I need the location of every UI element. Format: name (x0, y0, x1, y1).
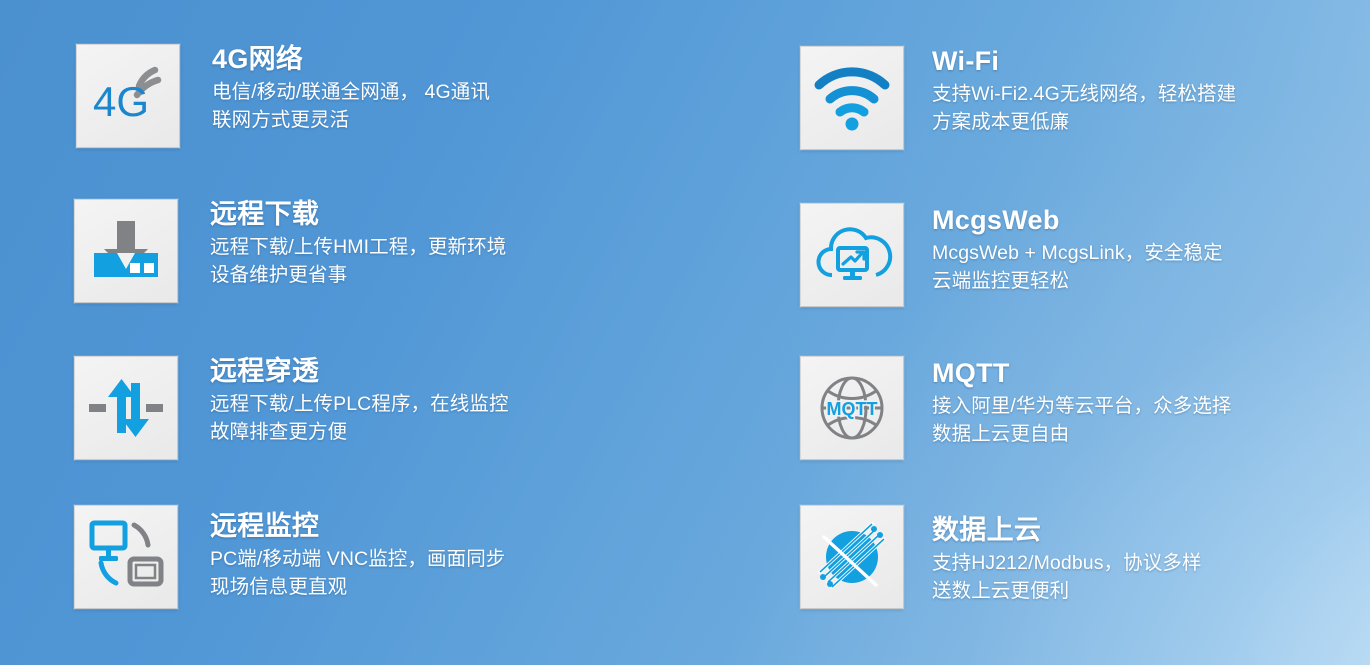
download-arrow-icon (74, 199, 178, 303)
feature-description-line-1: 远程下载/上传HMI工程，更新环境 (210, 234, 506, 262)
feature-description: McgsWeb + McgsLink，安全稳定 云端监控更轻松 (932, 240, 1223, 295)
feature-description-line-2: 云端监控更轻松 (932, 268, 1223, 296)
wifi-icon (800, 46, 904, 150)
feature-description-line-2: 现场信息更直观 (210, 574, 505, 602)
feature-item-wifi[interactable]: Wi-Fi 支持Wi-Fi2.4G无线网络，轻松搭建 方案成本更低廉 (800, 46, 1236, 150)
feature-grid-page: 4G 4G网络 电信/移动/联通全网通， 4G通讯 联网方式更灵活 (0, 0, 1370, 665)
feature-description-line-1: PC端/移动端 VNC监控，画面同步 (210, 546, 505, 574)
feature-description-line-2: 方案成本更低廉 (932, 109, 1236, 137)
data-stream-circle-icon (800, 505, 904, 609)
feature-description: 远程下载/上传HMI工程，更新环境 设备维护更省事 (210, 234, 506, 289)
feature-description: 电信/移动/联通全网通， 4G通讯 联网方式更灵活 (212, 79, 490, 134)
feature-description-line-2: 联网方式更灵活 (212, 107, 490, 135)
feature-item-remote-download[interactable]: 远程下载 远程下载/上传HMI工程，更新环境 设备维护更省事 (74, 199, 506, 303)
feature-title: Wi-Fi (932, 46, 1236, 78)
feature-item-remote-monitoring[interactable]: 远程监控 PC端/移动端 VNC监控，画面同步 现场信息更直观 (74, 505, 505, 609)
feature-description-line-1: 支持HJ212/Modbus，协议多样 (932, 550, 1202, 578)
cloud-monitor-icon (800, 203, 904, 307)
feature-item-remote-passthrough[interactable]: 远程穿透 远程下载/上传PLC程序，在线监控 故障排查更方便 (74, 356, 509, 460)
feature-text-block: McgsWeb McgsWeb + McgsLink，安全稳定 云端监控更轻松 (932, 203, 1223, 295)
feature-title: 远程下载 (210, 199, 506, 231)
up-down-arrows-icon (74, 356, 178, 460)
feature-text-block: 远程下载 远程下载/上传HMI工程，更新环境 设备维护更省事 (210, 199, 506, 289)
feature-title: 远程监控 (210, 511, 505, 543)
feature-description-line-2: 数据上云更自由 (932, 421, 1232, 449)
feature-description-line-1: 远程下载/上传PLC程序，在线监控 (210, 391, 509, 419)
feature-item-data-to-cloud[interactable]: 数据上云 支持HJ212/Modbus，协议多样 送数上云更便利 (800, 505, 1202, 609)
svg-text:4G: 4G (93, 78, 149, 125)
feature-description: 远程下载/上传PLC程序，在线监控 故障排查更方便 (210, 391, 509, 446)
feature-description-line-1: 电信/移动/联通全网通， 4G通讯 (212, 79, 490, 107)
monitor-tablet-icon (74, 505, 178, 609)
feature-description-line-1: McgsWeb + McgsLink，安全稳定 (932, 240, 1223, 268)
feature-description: 接入阿里/华为等云平台，众多选择 数据上云更自由 (932, 393, 1232, 448)
feature-text-block: 远程穿透 远程下载/上传PLC程序，在线监控 故障排查更方便 (210, 356, 509, 446)
feature-text-block: Wi-Fi 支持Wi-Fi2.4G无线网络，轻松搭建 方案成本更低廉 (932, 46, 1236, 136)
feature-title: McgsWeb (932, 205, 1223, 237)
feature-description-line-1: 接入阿里/华为等云平台，众多选择 (932, 393, 1232, 421)
mqtt-label: MQTT (827, 399, 878, 419)
feature-description-line-1: 支持Wi-Fi2.4G无线网络，轻松搭建 (932, 81, 1236, 109)
feature-title: 数据上云 (932, 515, 1202, 547)
feature-text-block: 远程监控 PC端/移动端 VNC监控，画面同步 现场信息更直观 (210, 505, 505, 601)
feature-text-block: MQTT 接入阿里/华为等云平台，众多选择 数据上云更自由 (932, 356, 1232, 448)
feature-text-block: 数据上云 支持HJ212/Modbus，协议多样 送数上云更便利 (932, 505, 1202, 605)
4g-signal-icon: 4G (76, 44, 180, 148)
feature-description: 支持Wi-Fi2.4G无线网络，轻松搭建 方案成本更低廉 (932, 81, 1236, 136)
feature-description-line-2: 送数上云更便利 (932, 578, 1202, 606)
feature-description: 支持HJ212/Modbus，协议多样 送数上云更便利 (932, 550, 1202, 605)
feature-description: PC端/移动端 VNC监控，画面同步 现场信息更直观 (210, 546, 505, 601)
feature-description-line-2: 设备维护更省事 (210, 262, 506, 290)
feature-description-line-2: 故障排查更方便 (210, 419, 509, 447)
feature-title: 4G网络 (212, 44, 490, 76)
feature-item-mqtt[interactable]: MQTT MQTT 接入阿里/华为等云平台，众多选择 数据上云更自由 (800, 356, 1232, 460)
feature-text-block: 4G网络 电信/移动/联通全网通， 4G通讯 联网方式更灵活 (212, 44, 490, 134)
feature-item-mcgsweb[interactable]: McgsWeb McgsWeb + McgsLink，安全稳定 云端监控更轻松 (800, 203, 1223, 307)
feature-item-4g-network[interactable]: 4G 4G网络 电信/移动/联通全网通， 4G通讯 联网方式更灵活 (76, 44, 490, 148)
features-grid: 4G 4G网络 电信/移动/联通全网通， 4G通讯 联网方式更灵活 (0, 0, 1370, 665)
feature-title: 远程穿透 (210, 356, 509, 388)
feature-title: MQTT (932, 358, 1232, 390)
globe-mqtt-icon: MQTT (800, 356, 904, 460)
